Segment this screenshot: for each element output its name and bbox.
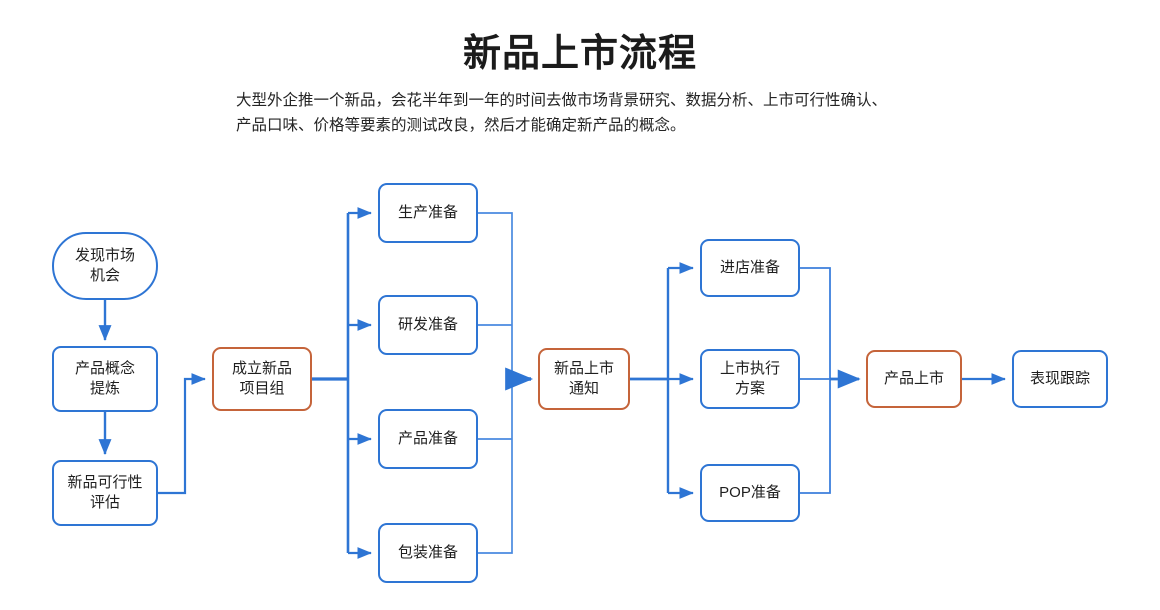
flow-node-n3[interactable]: 新品可行性评估 xyxy=(52,460,158,526)
flow-node-label-line: 项目组 xyxy=(232,379,292,399)
flow-node-n9[interactable]: 新品上市通知 xyxy=(538,348,630,410)
flow-node-label-line: 包装准备 xyxy=(398,543,458,563)
flow-node-n13[interactable]: 产品上市 xyxy=(866,350,962,408)
edge-n12-merge xyxy=(800,379,830,493)
flow-node-n10[interactable]: 进店准备 xyxy=(700,239,800,297)
subtitle-line-1: 大型外企推一个新品，会花半年到一年的时间去做市场背景研究、数据分析、上市可行性确… xyxy=(236,88,956,113)
flow-node-label: 生产准备 xyxy=(398,203,458,223)
flow-node-label: 新品可行性评估 xyxy=(67,473,142,513)
flow-node-label-line: 产品上市 xyxy=(884,369,944,389)
flow-node-label-line: 方案 xyxy=(720,379,780,399)
flow-node-label-line: 生产准备 xyxy=(398,203,458,223)
edge-n10-merge xyxy=(800,268,830,379)
flow-node-label-line: 成立新品 xyxy=(232,359,292,379)
flow-node-label-line: POP准备 xyxy=(719,483,781,503)
flow-node-label: 包装准备 xyxy=(398,543,458,563)
flow-node-label-line: 机会 xyxy=(75,266,135,286)
flow-node-label-line: 产品准备 xyxy=(398,429,458,449)
edge-n8-merge xyxy=(478,379,512,553)
flow-node-label-line: 进店准备 xyxy=(720,258,780,278)
flow-node-label-line: 研发准备 xyxy=(398,315,458,335)
flow-node-n2[interactable]: 产品概念提炼 xyxy=(52,346,158,412)
flow-node-label: 新品上市通知 xyxy=(554,359,614,399)
flow-node-label: 进店准备 xyxy=(720,258,780,278)
flow-node-n8[interactable]: 包装准备 xyxy=(378,523,478,583)
page-title: 新品上市流程 xyxy=(0,22,1160,77)
flow-node-label-line: 产品概念 xyxy=(75,359,135,379)
flow-node-label: 研发准备 xyxy=(398,315,458,335)
flow-node-label-line: 新品上市 xyxy=(554,359,614,379)
flow-node-label: 产品上市 xyxy=(884,369,944,389)
flow-node-n1[interactable]: 发现市场机会 xyxy=(52,232,158,300)
flow-node-n6[interactable]: 研发准备 xyxy=(378,295,478,355)
flow-node-n7[interactable]: 产品准备 xyxy=(378,409,478,469)
flow-node-label: POP准备 xyxy=(719,483,781,503)
flow-node-label: 上市执行方案 xyxy=(720,359,780,399)
flow-node-n11[interactable]: 上市执行方案 xyxy=(700,349,800,409)
flow-node-label: 表现跟踪 xyxy=(1030,369,1090,389)
flow-node-label: 成立新品项目组 xyxy=(232,359,292,399)
edge-n5-merge xyxy=(478,213,512,379)
flow-node-label-line: 上市执行 xyxy=(720,359,780,379)
flow-node-label-line: 新品可行性 xyxy=(67,473,142,493)
flow-node-n4[interactable]: 成立新品项目组 xyxy=(212,347,312,411)
flow-node-label-line: 表现跟踪 xyxy=(1030,369,1090,389)
subtitle-line-2: 产品口味、价格等要素的测试改良，然后才能确定新产品的概念。 xyxy=(236,113,956,138)
flow-node-label: 产品概念提炼 xyxy=(75,359,135,399)
flow-node-label: 产品准备 xyxy=(398,429,458,449)
flow-node-label: 发现市场机会 xyxy=(75,246,135,286)
flow-node-n5[interactable]: 生产准备 xyxy=(378,183,478,243)
flow-node-n14[interactable]: 表现跟踪 xyxy=(1012,350,1108,408)
flow-node-label-line: 评估 xyxy=(67,493,142,513)
flow-node-label-line: 发现市场 xyxy=(75,246,135,266)
flow-node-n12[interactable]: POP准备 xyxy=(700,464,800,522)
page-subtitle: 大型外企推一个新品，会花半年到一年的时间去做市场背景研究、数据分析、上市可行性确… xyxy=(236,88,956,138)
flow-node-label-line: 提炼 xyxy=(75,379,135,399)
edge-n3-n4 xyxy=(158,379,205,493)
flow-node-label-line: 通知 xyxy=(554,379,614,399)
